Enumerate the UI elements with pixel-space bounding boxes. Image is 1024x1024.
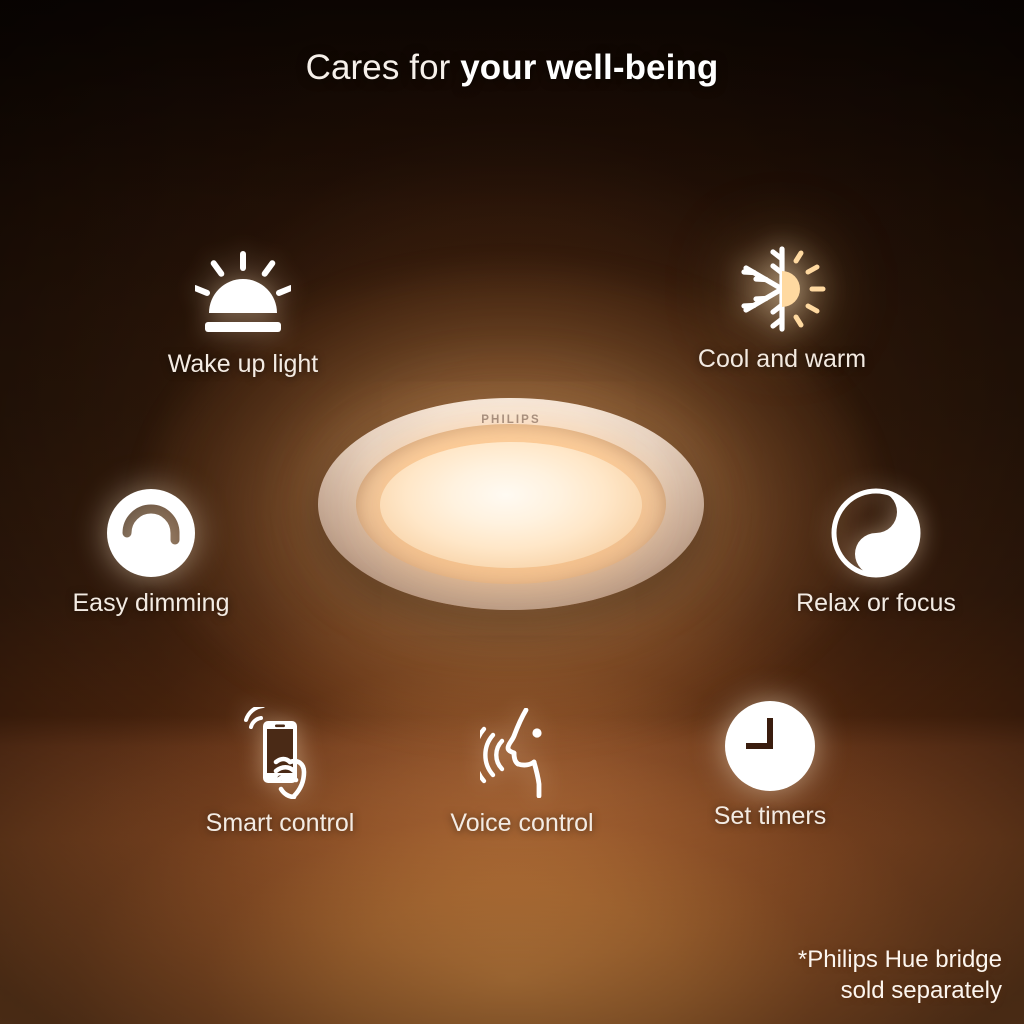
snowflake-sun-icon bbox=[732, 243, 832, 335]
feature-label: Easy dimming bbox=[73, 589, 230, 618]
feature-label: Smart control bbox=[206, 809, 355, 838]
feature-set-timers: Set timers bbox=[640, 700, 900, 831]
feature-relax-or-focus: Relax or focus bbox=[746, 487, 1006, 618]
yin-yang-icon bbox=[830, 487, 922, 579]
page-title: Cares for your well-being bbox=[0, 48, 1024, 88]
feature-label: Voice control bbox=[450, 809, 593, 838]
feature-easy-dimming: Easy dimming bbox=[21, 487, 281, 618]
face-soundwave-icon bbox=[480, 707, 564, 799]
feature-cool-and-warm: Cool and warm bbox=[652, 243, 912, 374]
clock-icon bbox=[723, 700, 817, 792]
hand-phone-wifi-icon bbox=[237, 707, 323, 799]
dimmer-dial-icon bbox=[105, 487, 197, 579]
feature-smart-control: Smart control bbox=[150, 707, 410, 838]
product-feature-graphic: Cares for your well-being PHILIPS bbox=[0, 0, 1024, 1024]
product-luminaire: PHILIPS bbox=[318, 398, 704, 610]
feature-voice-control: Voice control bbox=[392, 707, 652, 838]
feature-wake-up-light: Wake up light bbox=[113, 248, 373, 379]
feature-label: Relax or focus bbox=[796, 589, 956, 618]
footnote-line-2: sold separately bbox=[798, 975, 1002, 1006]
sunrise-icon bbox=[195, 248, 291, 340]
feature-label: Set timers bbox=[714, 802, 827, 831]
footnote-line-1: *Philips Hue bridge bbox=[798, 944, 1002, 975]
headline-bold: your well-being bbox=[460, 48, 718, 87]
feature-label: Cool and warm bbox=[698, 345, 866, 374]
headline-regular: Cares for bbox=[306, 48, 461, 87]
philips-brand-label: PHILIPS bbox=[318, 414, 704, 426]
luminaire-diffuser bbox=[380, 442, 642, 568]
feature-label: Wake up light bbox=[168, 350, 319, 379]
footnote: *Philips Hue bridge sold separately bbox=[798, 944, 1002, 1006]
